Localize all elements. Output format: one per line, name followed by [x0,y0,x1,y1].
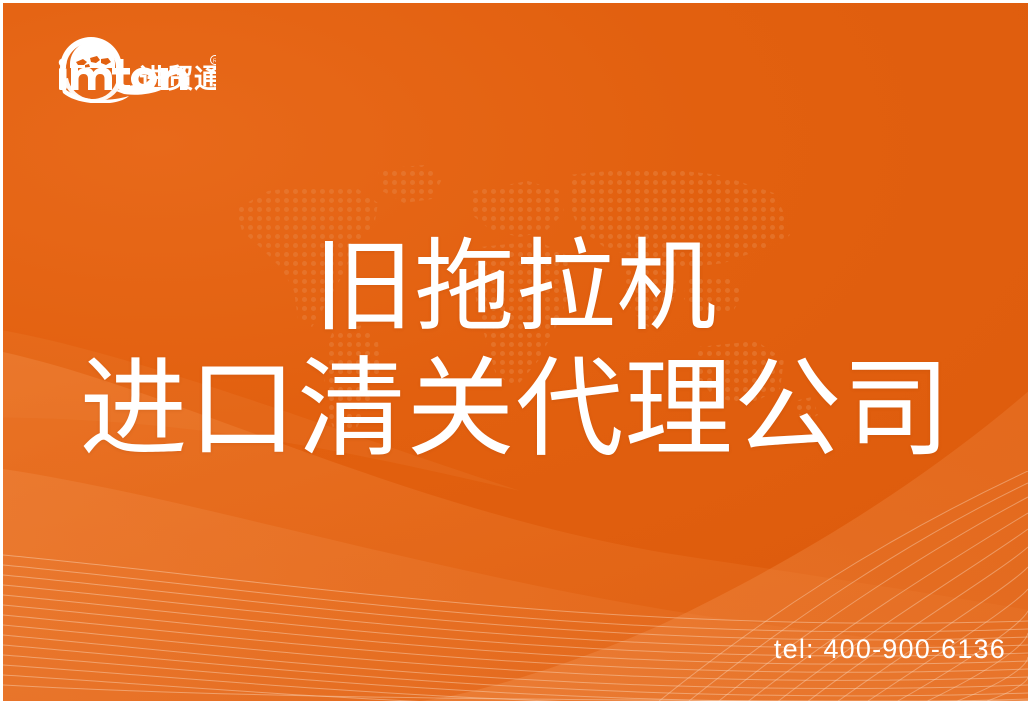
headline-line-1: 旧拖拉机 [3,231,1028,343]
headline: 旧拖拉机 进口清关代理公司 [3,231,1028,470]
svg-text:R: R [213,59,216,65]
contact-phone[interactable]: tel: 400-900-6136 [774,634,1006,665]
brand-logo[interactable]: 进贸通 R [41,31,216,103]
line-fan-decoration [3,471,1028,701]
promo-banner: 进贸通 R 旧拖拉机 进口清关代理公司 tel: 400-900-6136 [0,0,1031,704]
trademark-icon: R [211,56,217,65]
headline-line-2: 进口清关代理公司 [3,349,1028,470]
